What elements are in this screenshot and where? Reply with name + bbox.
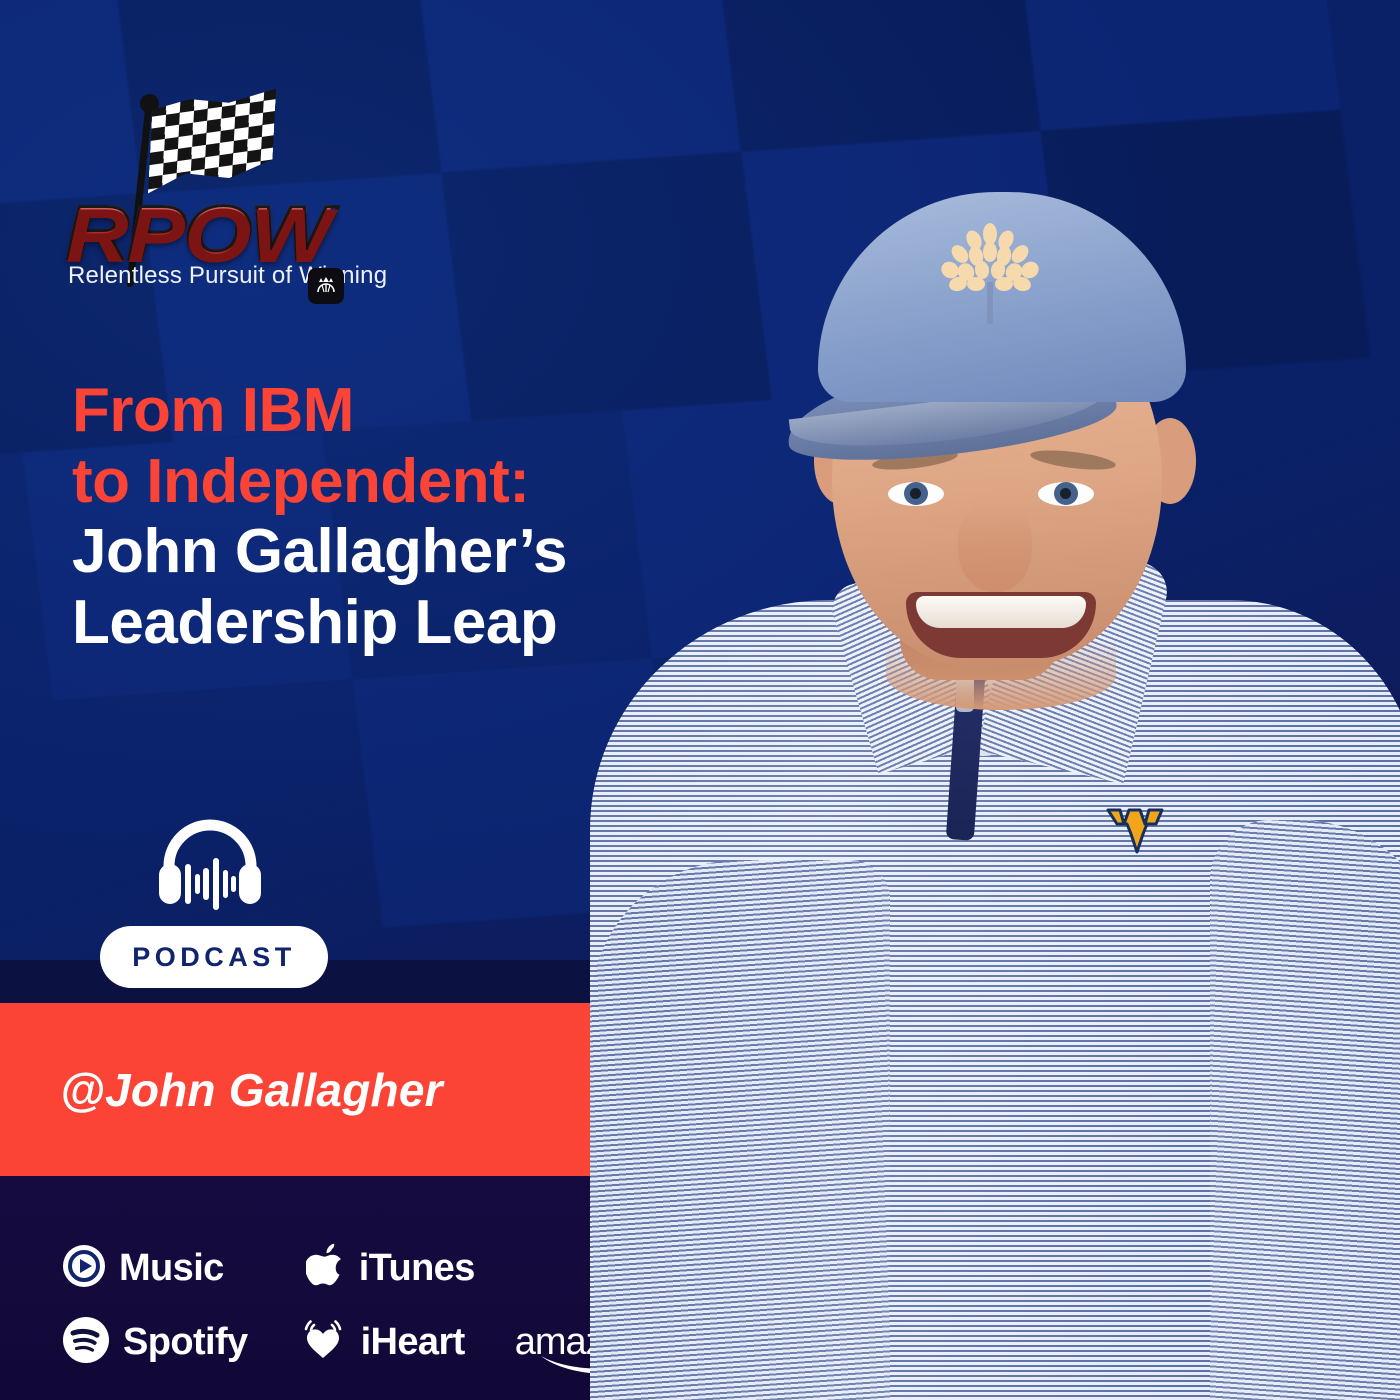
guest-photo [600, 100, 1400, 1400]
apple-icon [306, 1243, 346, 1294]
headphones-waveform-icon [155, 818, 265, 910]
pullover-arm-right [1210, 820, 1400, 1400]
pupil-right [1060, 488, 1071, 499]
platform-iheart[interactable]: iHeart [298, 1318, 465, 1367]
platform-label: Music [119, 1247, 224, 1290]
nose [958, 504, 1032, 592]
spotify-icon [62, 1316, 110, 1369]
platform-label: iHeart [361, 1321, 465, 1364]
crown-rays-icon [308, 268, 344, 304]
smile [906, 592, 1096, 658]
platform-itunes[interactable]: iTunes [306, 1243, 475, 1294]
pullover-arm-left [590, 860, 890, 1400]
podcast-cover-art: RPOW Relentless Pursuit of Winning From … [0, 0, 1400, 1400]
podcast-label: PODCAST [132, 942, 296, 973]
wv-logo [1100, 794, 1174, 868]
iheart-icon [298, 1318, 348, 1367]
podcast-pill[interactable]: PODCAST [100, 926, 328, 988]
pupil-left [910, 488, 921, 499]
platform-label: iTunes [359, 1247, 475, 1290]
play-circle-icon [62, 1244, 106, 1293]
tree-icon [930, 220, 1050, 332]
platform-music[interactable]: Music [62, 1244, 224, 1293]
guest-handle-band: @John Gallagher [0, 1003, 650, 1176]
platform-label: Spotify [123, 1321, 248, 1364]
platform-spotify[interactable]: Spotify [62, 1316, 248, 1369]
guest-handle: @John Gallagher [60, 1063, 443, 1117]
